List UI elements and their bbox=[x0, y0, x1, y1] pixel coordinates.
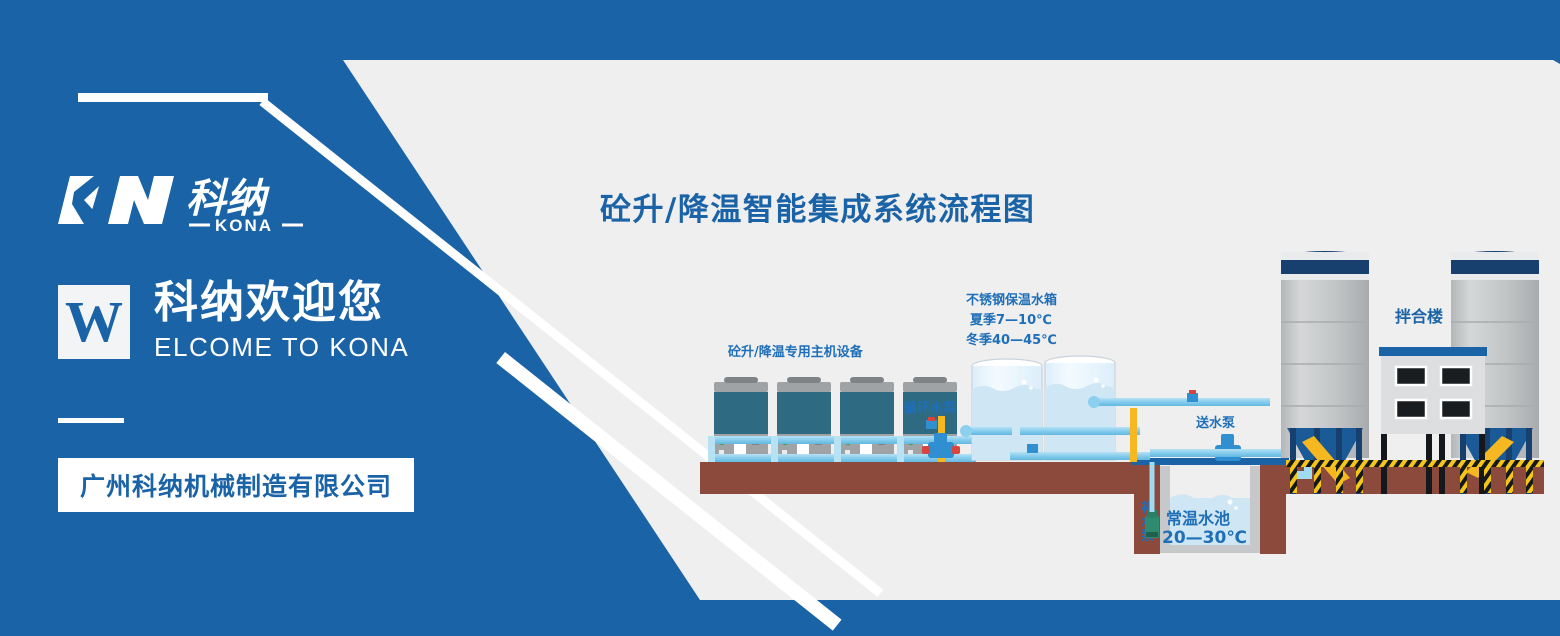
label-chillers: 砼升/降温专用主机设备 bbox=[728, 344, 864, 360]
mixing-plant: 拌合楼 bbox=[1281, 251, 1539, 494]
pipe-top-return bbox=[1090, 398, 1270, 406]
label-tank-title: 不锈钢保温水箱 bbox=[966, 292, 1057, 308]
svg-text:KONA: KONA bbox=[215, 216, 273, 232]
welcome-block: W 科纳欢迎您 ELCOME TO KONA bbox=[58, 280, 410, 363]
label-mixing-plant: 拌合楼 bbox=[1395, 307, 1443, 326]
kona-logo[interactable]: 科纳 KONA bbox=[58, 170, 318, 232]
label-circulation-pump: 循环水泵 bbox=[904, 400, 956, 416]
label-tank-winter: 冬季40—45℃ bbox=[966, 332, 1057, 348]
label-supply-pump: 送水泵 bbox=[1195, 415, 1235, 431]
welcome-title-cn: 科纳欢迎您 bbox=[154, 280, 410, 326]
label-pool-temp: 20—30℃ bbox=[1162, 528, 1247, 548]
kn-logo-icon: 科纳 KONA bbox=[58, 170, 318, 232]
process-flow-diagram: 补 水 泵 常温水池 20—30℃ bbox=[690, 230, 1550, 570]
label-tank-summer: 夏季7—10℃ bbox=[969, 312, 1052, 328]
banner-canvas: 科纳 KONA W 科纳欢迎您 ELCOME TO KONA 广州科纳机械制造有… bbox=[0, 0, 1560, 636]
divider-rule bbox=[58, 418, 124, 423]
company-name-badge: 广州科纳机械制造有限公司 bbox=[58, 458, 414, 512]
water-tank-group bbox=[972, 356, 1115, 460]
welcome-initial-badge: W bbox=[58, 285, 130, 359]
diagram-title: 砼升/降温智能集成系统流程图 bbox=[600, 184, 1035, 229]
welcome-title-en: ELCOME TO KONA bbox=[154, 332, 410, 363]
label-pool-title: 常温水池 bbox=[1166, 509, 1230, 528]
